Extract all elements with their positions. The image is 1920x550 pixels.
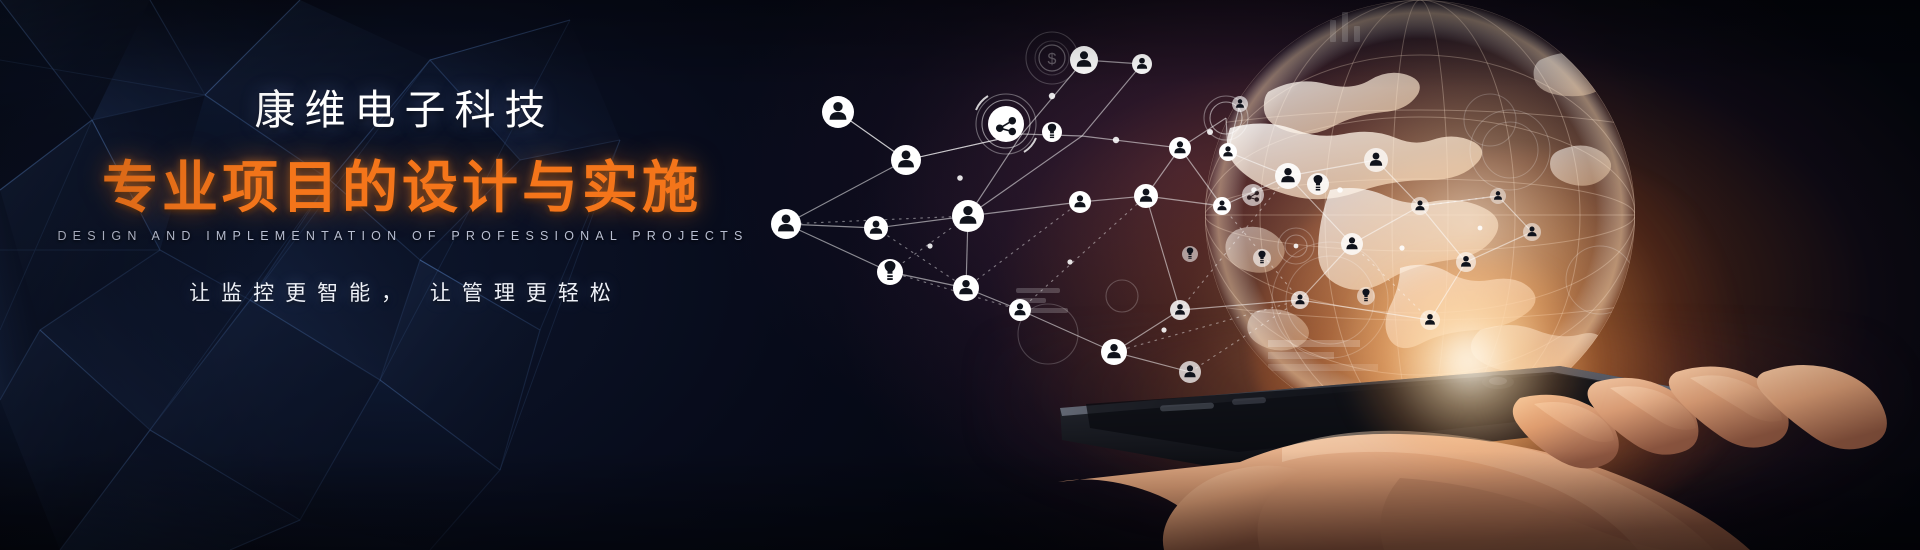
node-person (1291, 291, 1309, 309)
network-nodes (771, 46, 1541, 383)
node-lightbulb (1182, 246, 1198, 262)
network-links-solid (786, 60, 1532, 372)
node-person (1009, 299, 1031, 321)
headline: 专业项目的设计与实施 (0, 159, 800, 218)
node-lightbulb (1042, 122, 1062, 142)
node-person (1275, 163, 1301, 189)
svg-text:$: $ (1048, 51, 1057, 68)
node-person (1070, 46, 1098, 74)
node-person (1420, 310, 1440, 330)
node-person (1101, 339, 1127, 365)
node-person (1341, 233, 1363, 255)
tagline: 让监控更智能， 让管理更轻松 (0, 277, 800, 307)
node-person (1069, 191, 1091, 213)
node-person (1169, 137, 1191, 159)
chart-bars-icon (1016, 12, 1360, 313)
node-lightbulb (1253, 249, 1271, 267)
dollar-icon: $ (1039, 45, 1065, 71)
node-person (1219, 143, 1237, 161)
node-share (1242, 184, 1264, 206)
node-person (1232, 96, 1248, 112)
node-person (1134, 184, 1158, 208)
node-person (953, 275, 979, 301)
node-person (1179, 361, 1201, 383)
banner-text-block: 康维电子科技 专业项目的设计与实施 DESIGN AND IMPLEMENTAT… (0, 88, 800, 307)
node-lightbulb (1357, 287, 1375, 305)
node-person (1170, 300, 1190, 320)
node-person (1490, 188, 1506, 204)
node-person (822, 96, 854, 128)
node-person (864, 216, 888, 240)
node-lightbulb (877, 259, 903, 285)
node-share (988, 106, 1024, 142)
page-title: 康维电子科技 (0, 88, 800, 133)
node-person (891, 145, 921, 175)
node-person (952, 200, 984, 232)
node-person (1364, 148, 1388, 172)
node-person (1523, 223, 1541, 241)
node-person (1213, 197, 1231, 215)
node-person (1411, 197, 1429, 215)
node-person (1456, 252, 1476, 272)
hero-banner: $ (0, 0, 1920, 550)
node-lightbulb (1307, 173, 1329, 195)
node-person (1132, 54, 1152, 74)
subtitle-english: DESIGN AND IMPLEMENTATION OF PROFESSIONA… (0, 229, 800, 243)
